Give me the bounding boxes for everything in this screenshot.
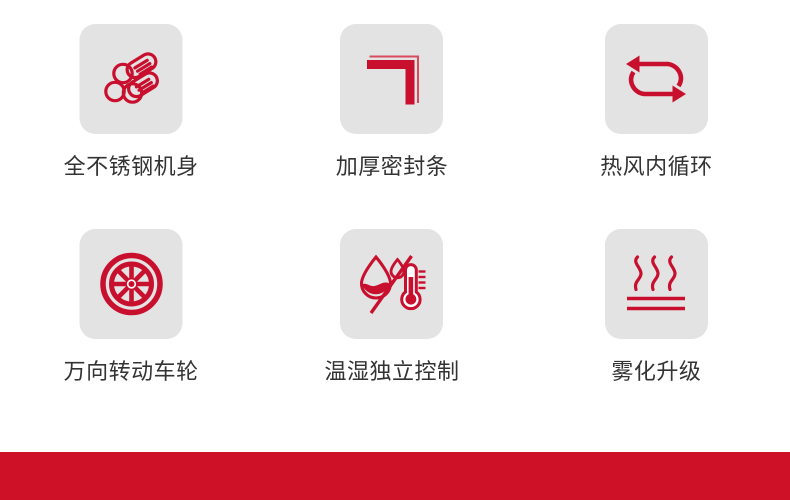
feature-label: 万向转动车轮 (64, 358, 199, 386)
humidity-temperature-icon (356, 251, 428, 317)
feature-label: 全不锈钢机身 (64, 153, 199, 181)
steam-mist-icon (623, 253, 689, 315)
feature-item-humidity-temperature[interactable]: 温湿独立控制 (260, 229, 523, 434)
feature-label: 加厚密封条 (336, 153, 449, 181)
corner-seal-strip-icon (358, 46, 426, 112)
feature-item-seal-strip[interactable]: 加厚密封条 (260, 24, 523, 229)
icon-tile (340, 229, 443, 339)
feature-item-hot-air-circulation[interactable]: 热风内循环 (525, 24, 788, 229)
icon-tile (340, 24, 443, 134)
feature-label: 热风内循环 (600, 153, 713, 181)
feature-item-caster-wheel[interactable]: 万向转动车轮 (0, 229, 263, 434)
icon-tile (80, 229, 183, 339)
caster-wheel-icon (99, 252, 163, 316)
feature-highlight-page: 全不锈钢机身 加厚密封条 (0, 0, 790, 500)
bottom-red-band (0, 452, 790, 500)
feature-label: 雾化升级 (611, 358, 701, 386)
icon-tile (605, 24, 708, 134)
icon-tile (605, 229, 708, 339)
feature-item-atomization-upgrade[interactable]: 雾化升级 (525, 229, 788, 434)
feature-grid: 全不锈钢机身 加厚密封条 (0, 0, 790, 430)
icon-tile (80, 24, 183, 134)
stacked-steel-tubes-icon (98, 46, 164, 112)
feature-label: 温湿独立控制 (324, 358, 459, 386)
air-circulation-loop-icon (621, 51, 691, 107)
feature-item-stainless-body[interactable]: 全不锈钢机身 (0, 24, 263, 229)
